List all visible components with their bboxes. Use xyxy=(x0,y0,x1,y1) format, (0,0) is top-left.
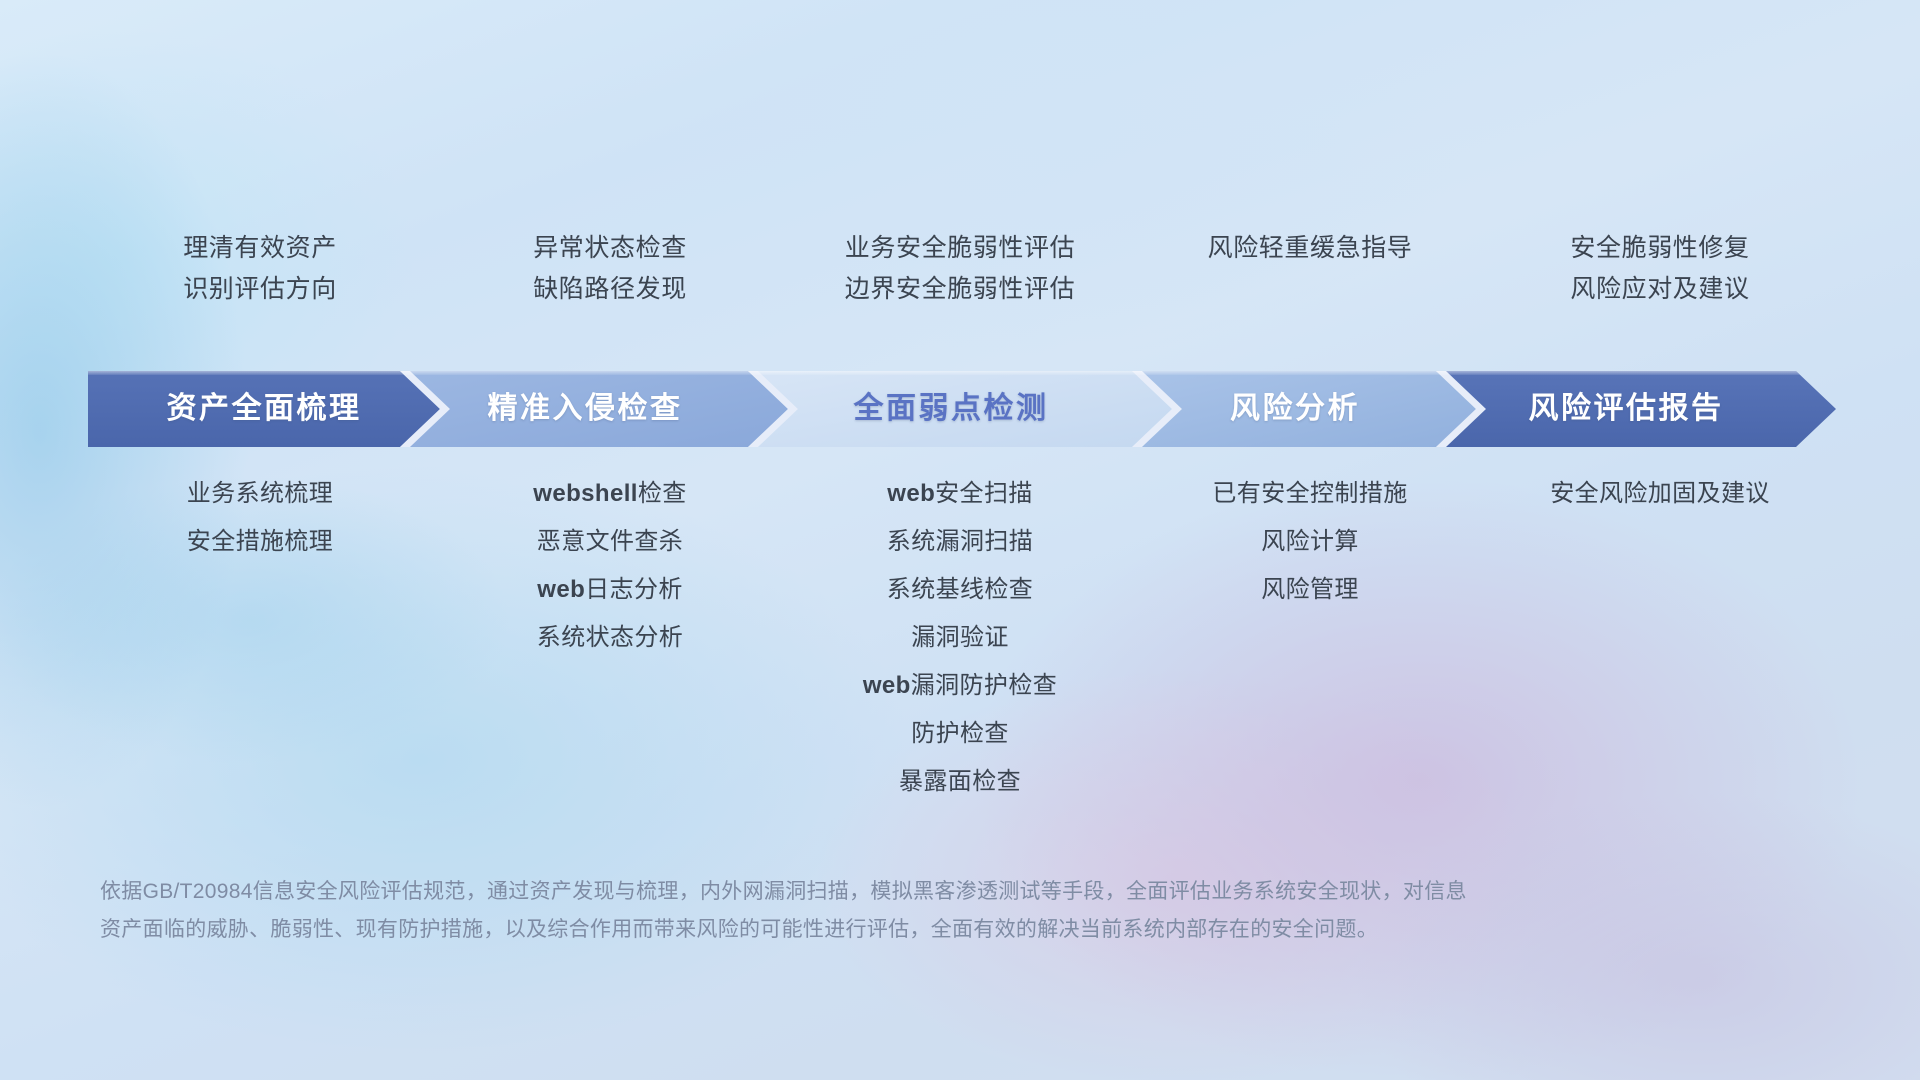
footer-line: 依据GB/T20984信息安全风险评估规范，通过资产发现与梳理，内外网漏洞扫描，… xyxy=(100,873,1720,911)
top-caption-risk-analysis: 风险轻重缓急指导 xyxy=(1135,228,1485,338)
bottom-caption-line: 风险计算 xyxy=(1135,518,1485,566)
bottom-caption-line: webshell检查 xyxy=(435,470,785,518)
bottom-caption-line: 漏洞验证 xyxy=(785,614,1135,662)
top-caption-intrusion-check: 异常状态检查 缺陷路径发现 xyxy=(435,228,785,338)
top-caption-line: 异常状态检查 xyxy=(435,228,785,269)
bottom-caption-line: 恶意文件查杀 xyxy=(435,518,785,566)
top-caption-line: 风险应对及建议 xyxy=(1485,269,1835,310)
process-flow: 理清有效资产 识别评估方向 异常状态检查 缺陷路径发现 业务安全脆弱性评估 边界… xyxy=(0,0,1920,1080)
top-caption-weakness-detection: 业务安全脆弱性评估 边界安全脆弱性评估 xyxy=(785,228,1135,338)
bottom-caption-line: 安全措施梳理 xyxy=(85,518,435,566)
chevron-label-risk-report[interactable]: 风险评估报告 xyxy=(1448,371,1804,447)
bottom-caption-line: 暴露面检查 xyxy=(785,758,1135,806)
chevron-label-intrusion-check[interactable]: 精准入侵检查 xyxy=(412,371,758,447)
bottom-caption-line: 防护检查 xyxy=(785,710,1135,758)
chevron-label-weakness-detection[interactable]: 全面弱点检测 xyxy=(760,371,1142,447)
bottom-caption-risk-report: 安全风险加固及建议 xyxy=(1485,470,1835,518)
bottom-caption-asset-inventory: 业务系统梳理 安全措施梳理 xyxy=(85,470,435,566)
bottom-caption-risk-analysis: 已有安全控制措施 风险计算 风险管理 xyxy=(1135,470,1485,614)
bottom-caption-intrusion-check: webshell检查 恶意文件查杀 web日志分析 系统状态分析 xyxy=(435,470,785,662)
top-caption-line: 风险轻重缓急指导 xyxy=(1135,228,1485,269)
bottom-caption-line: 业务系统梳理 xyxy=(85,470,435,518)
bottom-caption-line: 风险管理 xyxy=(1135,566,1485,614)
top-caption-line: 安全脆弱性修复 xyxy=(1485,228,1835,269)
footer-line: 资产面临的威胁、脆弱性、现有防护措施，以及综合作用而带来风险的可能性进行评估，全… xyxy=(100,911,1720,949)
bottom-caption-line: 系统漏洞扫描 xyxy=(785,518,1135,566)
top-caption-line: 边界安全脆弱性评估 xyxy=(785,269,1135,310)
infographic-canvas: 理清有效资产 识别评估方向 异常状态检查 缺陷路径发现 业务安全脆弱性评估 边界… xyxy=(0,0,1920,1080)
bottom-caption-line: 安全风险加固及建议 xyxy=(1485,470,1835,518)
top-caption-line: 业务安全脆弱性评估 xyxy=(785,228,1135,269)
bottom-caption-line: web漏洞防护检查 xyxy=(785,662,1135,710)
bottom-caption-line: 系统状态分析 xyxy=(435,614,785,662)
bottom-caption-line: web日志分析 xyxy=(435,566,785,614)
bottom-caption-line: web安全扫描 xyxy=(785,470,1135,518)
top-caption-asset-inventory: 理清有效资产 识别评估方向 xyxy=(85,228,435,338)
footer-description: 依据GB/T20984信息安全风险评估规范，通过资产发现与梳理，内外网漏洞扫描，… xyxy=(100,873,1720,949)
bottom-caption-weakness-detection: web安全扫描 系统漏洞扫描 系统基线检查 漏洞验证 web漏洞防护检查 防护检… xyxy=(785,470,1135,806)
top-captions-row: 理清有效资产 识别评估方向 异常状态检查 缺陷路径发现 业务安全脆弱性评估 边界… xyxy=(85,228,1835,338)
top-caption-line: 识别评估方向 xyxy=(85,269,435,310)
chevron-label-asset-inventory[interactable]: 资产全面梳理 xyxy=(88,371,440,447)
chevron-label-risk-analysis[interactable]: 风险分析 xyxy=(1144,371,1446,447)
bottom-caption-line: 系统基线检查 xyxy=(785,566,1135,614)
top-caption-line: 缺陷路径发现 xyxy=(435,269,785,310)
top-caption-line: 理清有效资产 xyxy=(85,228,435,269)
top-caption-risk-report: 安全脆弱性修复 风险应对及建议 xyxy=(1485,228,1835,338)
bottom-captions-row: 业务系统梳理 安全措施梳理 webshell检查 恶意文件查杀 web日志分析 … xyxy=(85,470,1835,806)
bottom-caption-line: 已有安全控制措施 xyxy=(1135,470,1485,518)
